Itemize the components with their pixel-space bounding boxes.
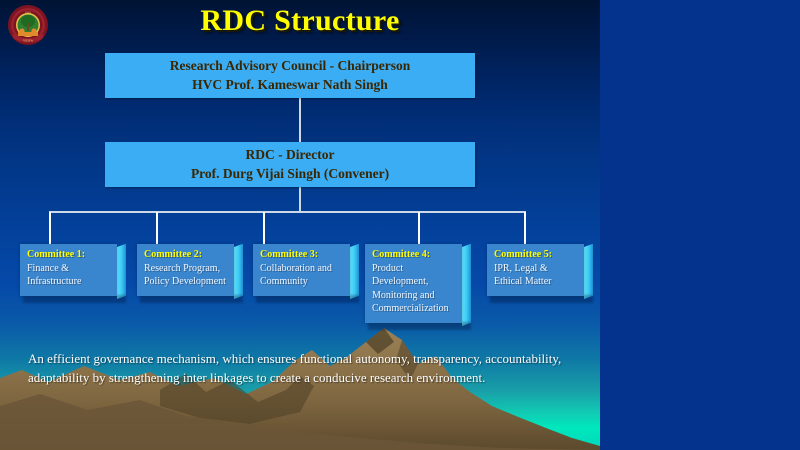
director-line-2: Prof. Durg Vijai Singh (Convener) xyxy=(191,165,389,183)
committee-4-body: Product Development, Monitoring and Comm… xyxy=(372,262,456,316)
committee-2-shadow xyxy=(140,295,243,303)
box-committee-1[interactable]: Committee 1: Finance & Infrastructure xyxy=(20,244,117,296)
committee-1-title: Committee 1: xyxy=(27,249,111,262)
committee-2-face: Committee 2: Research Program, Policy De… xyxy=(137,244,234,296)
connector-drop-committee-4 xyxy=(418,212,420,245)
slide-canvas: VIDYA 1916 RDC Structure Research Adviso… xyxy=(0,0,600,450)
committee-1-shadow xyxy=(23,295,126,303)
presentation-viewer: VIDYA 1916 RDC Structure Research Adviso… xyxy=(0,0,800,450)
box-committee-2[interactable]: Committee 2: Research Program, Policy De… xyxy=(137,244,234,296)
committee-3-title: Committee 3: xyxy=(260,249,344,262)
committee-4-side-edge xyxy=(462,244,471,326)
box-committee-5[interactable]: Committee 5: IPR, Legal & Ethical Matter xyxy=(487,244,584,296)
committee-1-body: Finance & Infrastructure xyxy=(27,262,111,289)
committee-4-face: Committee 4: Product Development, Monito… xyxy=(365,244,462,323)
box-rdc-director[interactable]: RDC - Director Prof. Durg Vijai Singh (C… xyxy=(105,142,475,187)
connector-drop-committee-1 xyxy=(49,212,51,245)
connector-director-to-bus xyxy=(299,187,301,212)
committee-5-title: Committee 5: xyxy=(494,249,578,262)
committee-4-title: Committee 4: xyxy=(372,249,456,262)
committee-1-side-edge xyxy=(117,244,126,299)
footer-paragraph: An efficient governance mechanism, which… xyxy=(28,350,568,388)
director-line-1: RDC - Director xyxy=(246,146,335,164)
committee-3-shadow xyxy=(256,295,359,303)
committee-5-body: IPR, Legal & Ethical Matter xyxy=(494,262,578,289)
svg-text:VIDYA: VIDYA xyxy=(23,39,34,43)
box-research-advisory-council[interactable]: Research Advisory Council - Chairperson … xyxy=(105,53,475,98)
committee-3-side-edge xyxy=(350,244,359,299)
rac-line-2: HVC Prof. Kameswar Nath Singh xyxy=(192,76,388,94)
connector-horizontal-bus xyxy=(49,211,526,213)
connector-drop-committee-2 xyxy=(156,212,158,245)
committee-5-face: Committee 5: IPR, Legal & Ethical Matter xyxy=(487,244,584,296)
committee-2-side-edge xyxy=(234,244,243,299)
box-committee-4[interactable]: Committee 4: Product Development, Monito… xyxy=(365,244,462,323)
committee-2-title: Committee 2: xyxy=(144,249,228,262)
committee-5-shadow xyxy=(490,295,593,303)
committee-2-body: Research Program, Policy Development xyxy=(144,262,228,289)
committee-3-face: Committee 3: Collaboration and Community xyxy=(253,244,350,296)
connector-drop-committee-3 xyxy=(263,212,265,245)
committee-5-side-edge xyxy=(584,244,593,299)
committee-1-face: Committee 1: Finance & Infrastructure xyxy=(20,244,117,296)
viewer-background-pane xyxy=(600,0,800,450)
box-committee-3[interactable]: Committee 3: Collaboration and Community xyxy=(253,244,350,296)
rac-line-1: Research Advisory Council - Chairperson xyxy=(170,57,411,75)
slide-title: RDC Structure xyxy=(0,4,600,38)
connector-rac-to-director xyxy=(299,98,301,142)
connector-drop-committee-5 xyxy=(524,212,526,245)
committee-3-body: Collaboration and Community xyxy=(260,262,344,289)
committee-4-shadow xyxy=(368,322,471,330)
